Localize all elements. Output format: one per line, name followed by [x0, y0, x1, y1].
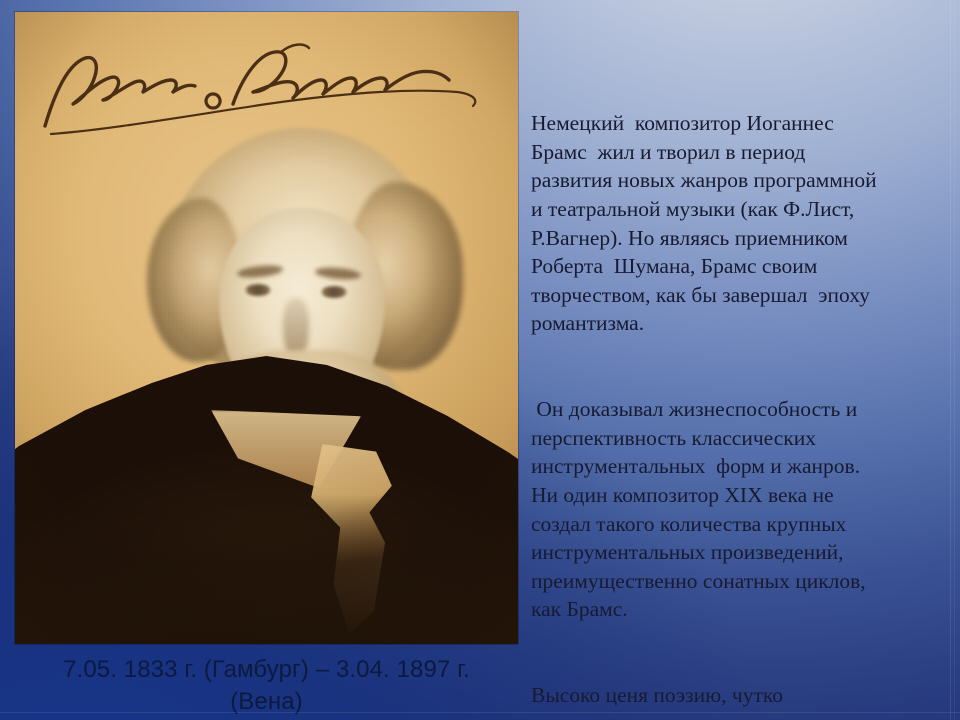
paragraph-1: Немецкий композитор Иоганнес Брамс жил и… [531, 109, 955, 338]
paragraph-2: Он доказывал жизнеспособность и перспект… [531, 395, 955, 624]
presentation-slide: 7.05. 1833 г. (Гамбург) – 3.04. 1897 г. … [0, 0, 960, 720]
caption-line-dates: 7.05. 1833 г. (Гамбург) – 3.04. 1897 г. [15, 654, 518, 686]
photo-caption: 7.05. 1833 г. (Гамбург) – 3.04. 1897 г. … [15, 654, 518, 718]
biography-text-block: Немецкий композитор Иоганнес Брамс жил и… [531, 52, 955, 720]
paragraph-3: Высоко ценя поэзию, чутко прислушиваясь … [531, 681, 955, 720]
brahms-portrait-photo [15, 12, 518, 644]
caption-line-city: (Вена) [15, 686, 518, 718]
photo-grain [15, 12, 518, 644]
